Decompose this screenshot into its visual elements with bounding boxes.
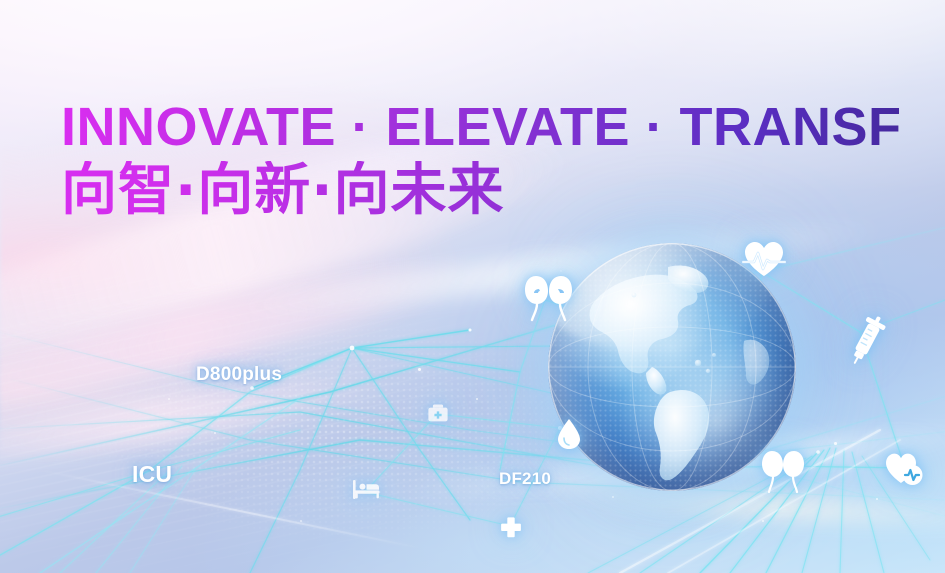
label-df210: DF210 xyxy=(499,469,551,489)
kidneys-icon xyxy=(520,272,576,324)
label-d800plus: D800plus xyxy=(196,364,282,386)
page-title: INNOVATE · ELEVATE · TRANSFORM xyxy=(61,99,901,155)
headline-block: INNOVATE · ELEVATE · TRANSFORM 向智·向新·向未来 xyxy=(61,99,901,221)
label-icu: ICU xyxy=(132,461,172,488)
medical-cross-icon xyxy=(500,516,522,538)
hero-banner: D800plus ICU DF210 INNOVATE · ELEVATE · … xyxy=(0,0,945,573)
hospital-bed-icon xyxy=(352,478,382,500)
kidneys-icon xyxy=(758,448,808,494)
page-subtitle: 向智·向新·向未来 xyxy=(61,161,901,220)
heart-monitor-icon xyxy=(884,450,924,488)
blood-drop-icon xyxy=(556,418,582,450)
medical-kit-icon xyxy=(426,401,450,425)
syringe-icon xyxy=(846,314,888,368)
heart-pulse-icon xyxy=(742,240,786,278)
